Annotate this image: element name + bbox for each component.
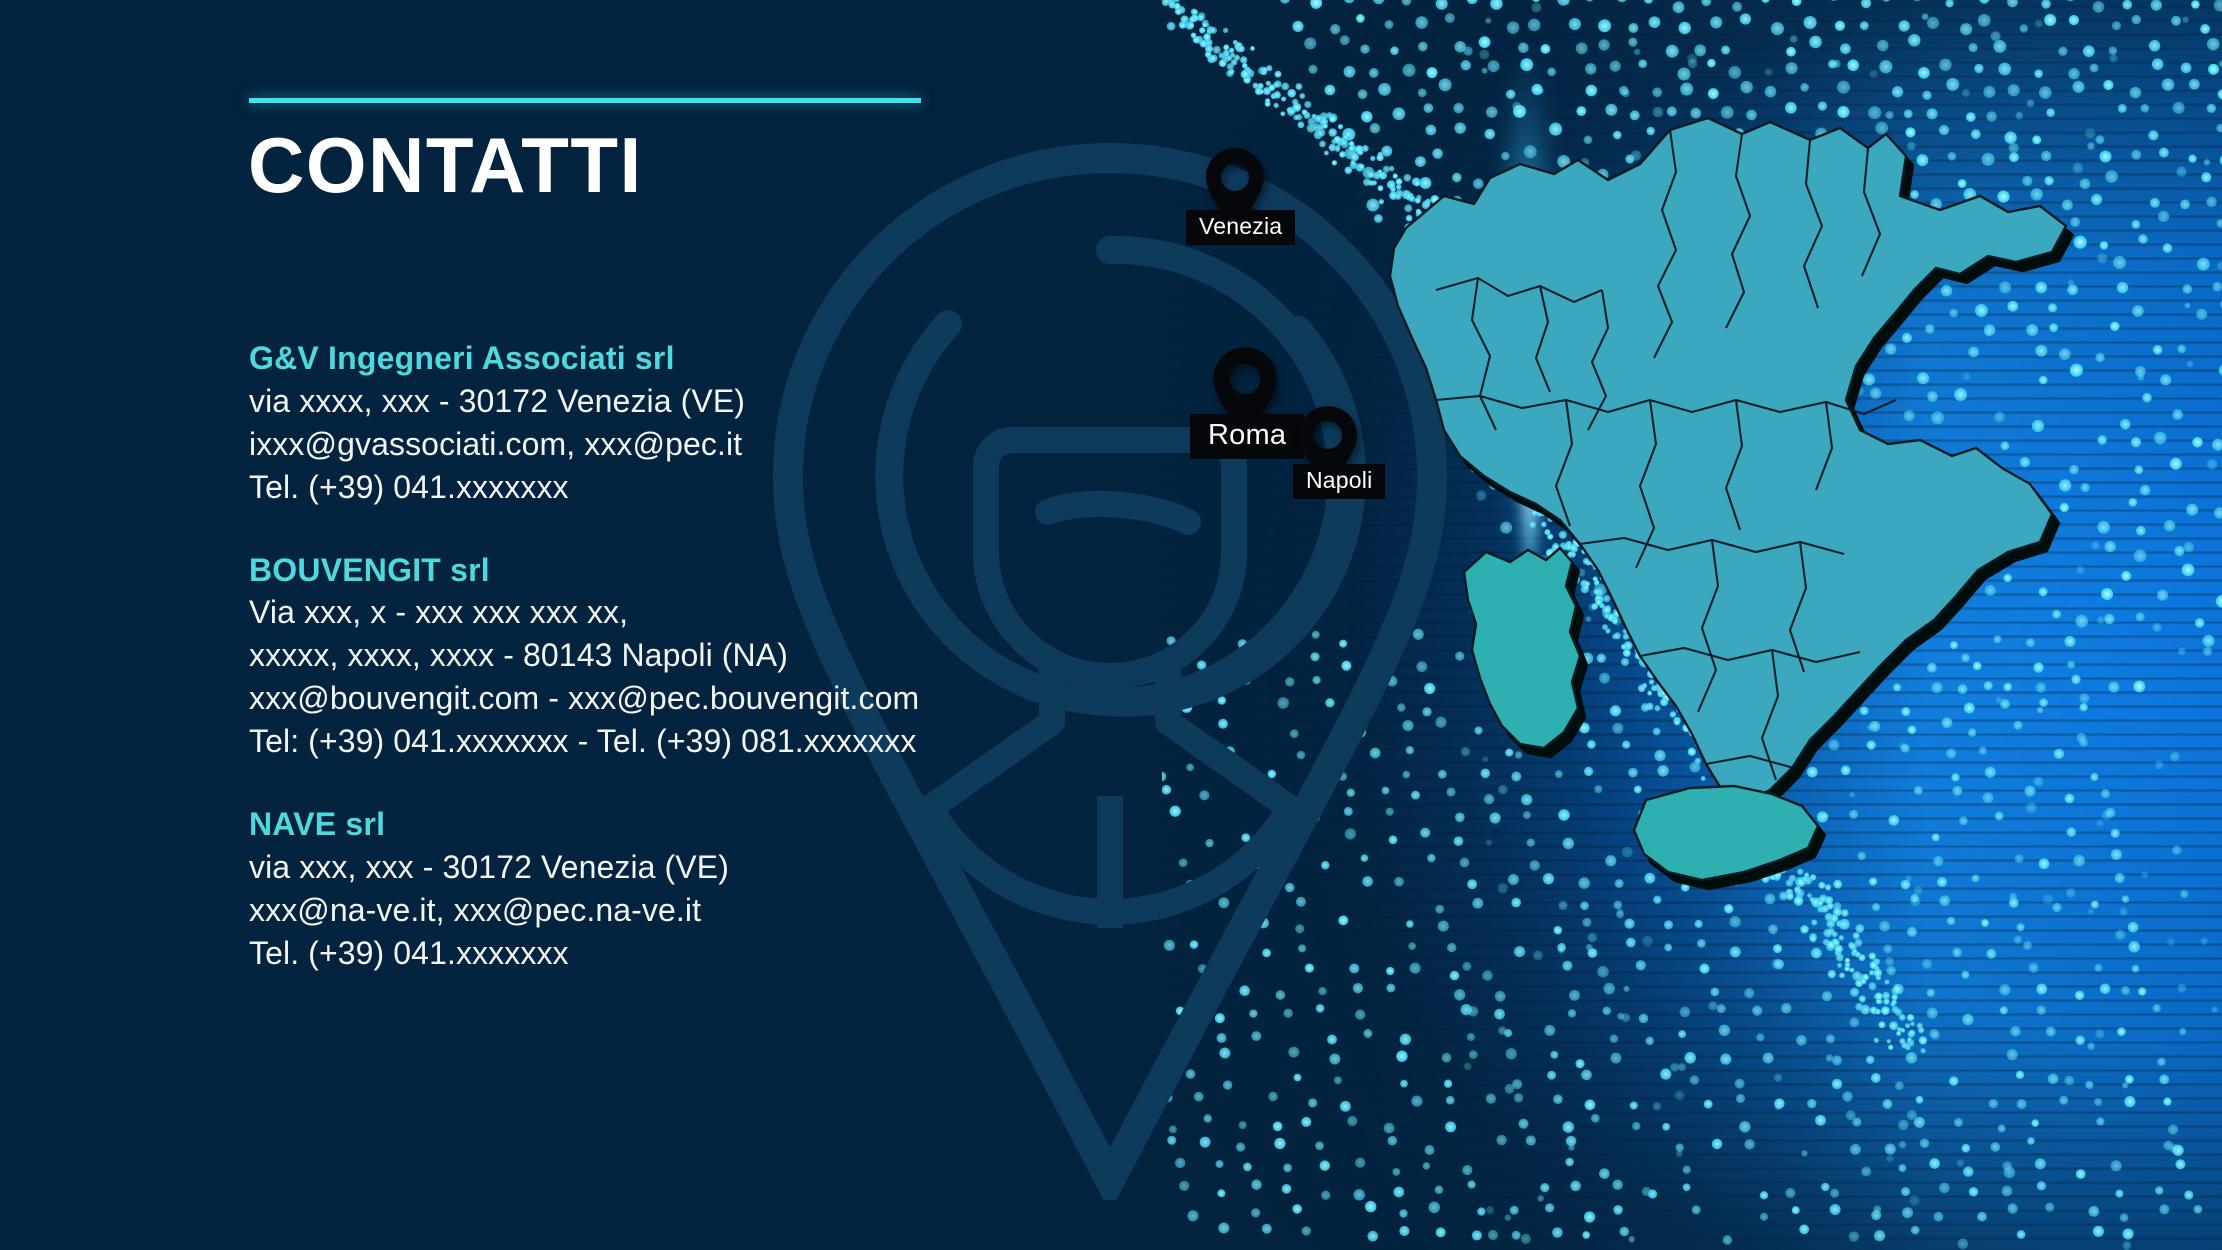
contact-detail-line: xxx@na-ve.it, xxx@pec.na-ve.it (249, 889, 1049, 932)
contact-detail-line: via xxx, xxx - 30172 Venezia (VE) (249, 846, 1049, 889)
contact-detail-line: xxx@bouvengit.com - xxx@pec.bouvengit.co… (249, 677, 1049, 720)
contact-detail-line: Tel: (+39) 041.xxxxxxx - Tel. (+39) 081.… (249, 720, 1049, 763)
contact-company-name: NAVE srl (249, 803, 1049, 846)
page-title: CONTATTI (248, 126, 643, 204)
map-pin-label-roma: Roma (1190, 414, 1304, 459)
map-pin-label-venezia: Venezia (1186, 210, 1295, 245)
contact-detail-line: xxxxx, xxxx, xxxx - 80143 Napoli (NA) (249, 634, 1049, 677)
title-rule-divider (249, 98, 921, 103)
contact-detail-line: Tel. (+39) 041.xxxxxxx (249, 932, 1049, 975)
italy-map (1340, 100, 2120, 960)
map-pin-label-napoli: Napoli (1293, 464, 1385, 499)
contact-company-name: G&V Ingegneri Associati srl (249, 337, 1049, 380)
contact-block: BOUVENGIT srlVia xxx, x - xxx xxx xxx xx… (249, 549, 1049, 763)
contact-block: G&V Ingegneri Associati srlvia xxxx, xxx… (249, 337, 1049, 509)
contact-company-name: BOUVENGIT srl (249, 549, 1049, 592)
contact-block: NAVE srlvia xxx, xxx - 30172 Venezia (VE… (249, 803, 1049, 975)
contact-detail-line: Tel. (+39) 041.xxxxxxx (249, 466, 1049, 509)
contacts-list: G&V Ingegneri Associati srlvia xxxx, xxx… (249, 337, 1049, 974)
contact-detail-line: ixxx@gvassociati.com, xxx@pec.it (249, 423, 1049, 466)
contact-detail-line: Via xxx, x - xxx xxx xxx xx, (249, 591, 1049, 634)
slide-root: Venezia Roma Napoli CONTATTI G&V Ingegne… (0, 0, 2222, 1250)
contact-detail-line: via xxxx, xxx - 30172 Venezia (VE) (249, 380, 1049, 423)
